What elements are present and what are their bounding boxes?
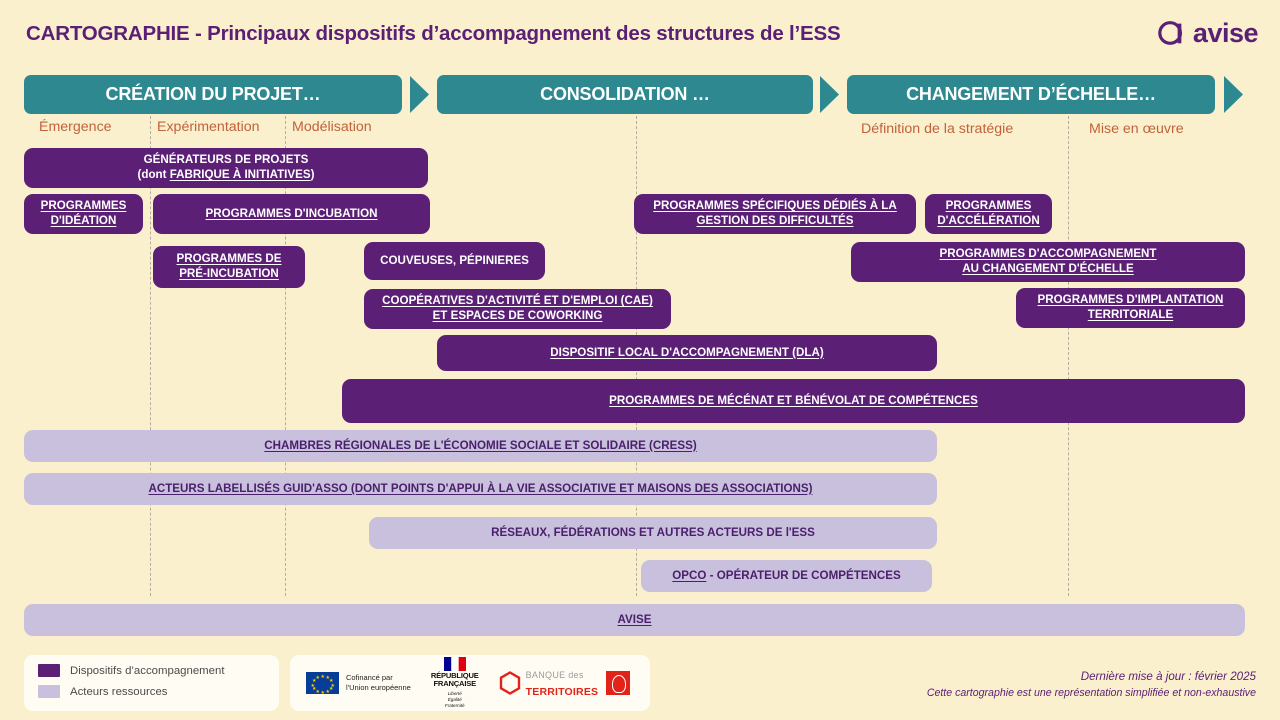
funder-banque-des-territoires: BANQUE des TERRITOIRES	[499, 666, 631, 700]
eu-funding-text: Cofinancé par l'Union européenne	[346, 673, 411, 693]
box-line-suffix: - OPÉRATEUR DE COMPÉTENCES	[706, 569, 900, 582]
box-line: PROGRAMMES	[41, 199, 127, 212]
substage-label-mise-en-oeuvre: Mise en œuvre	[1089, 121, 1184, 137]
box-line: TERRITORIALE	[1088, 308, 1173, 321]
box-mecenat-benevolat-competences[interactable]: PROGRAMMES DE MÉCÉNAT ET BÉNÉVOLAT DE CO…	[342, 379, 1245, 423]
column-divider-4	[1068, 116, 1069, 596]
legend-label: Dispositifs d’accompagnement	[70, 665, 224, 677]
box-line: PROGRAMMES DE MÉCÉNAT ET BÉNÉVOLAT DE CO…	[609, 394, 978, 407]
box-line: DISPOSITIF LOCAL D'ACCOMPAGNEMENT (DLA)	[550, 346, 823, 359]
column-divider-1	[150, 116, 151, 596]
box-line: PROGRAMMES D'INCUBATION	[206, 207, 378, 220]
box-programmes-gestion-difficultes[interactable]: PROGRAMMES SPÉCIFIQUES DÉDIÉS À LA GESTI…	[634, 194, 916, 234]
avise-wordmark: avise	[1193, 20, 1258, 47]
box-line: AVISE	[618, 613, 652, 626]
box-line: PROGRAMMES D'IMPLANTATION	[1038, 293, 1224, 306]
box-line: COUVEUSES, PÉPINIERES	[380, 254, 529, 267]
substage-label-emergence: Émergence	[39, 119, 112, 135]
funder-european-union: ★ ★ ★ ★ ★ ★ ★ ★ ★ ★ ★ ★ Cofinancé par l'…	[306, 672, 411, 694]
box-dispositif-local-accompagnement[interactable]: DISPOSITIF LOCAL D'ACCOMPAGNEMENT (DLA)	[437, 335, 937, 371]
legend-item-acteurs: Acteurs ressources	[38, 685, 279, 698]
box-line: D'IDÉATION	[51, 214, 117, 227]
box-accompagnement-changement-echelle[interactable]: PROGRAMMES D'ACCOMPAGNEMENT AU CHANGEMEN…	[851, 242, 1245, 282]
phase-arrow-2-icon	[818, 75, 840, 114]
box-line: RÉSEAUX, FÉDÉRATIONS ET AUTRES ACTEURS D…	[491, 526, 815, 539]
rf-motto-3: Fraternité	[431, 703, 479, 709]
eu-funding-line2: l'Union européenne	[346, 683, 411, 692]
column-divider-2	[285, 116, 286, 596]
eu-flag-icon: ★ ★ ★ ★ ★ ★ ★ ★ ★ ★ ★ ★	[306, 672, 339, 694]
box-line: PROGRAMMES	[946, 199, 1032, 212]
box-line: AU CHANGEMENT D'ÉCHELLE	[962, 262, 1134, 275]
phase-label: CONSOLIDATION …	[540, 84, 710, 105]
funders-strip: ★ ★ ★ ★ ★ ★ ★ ★ ★ ★ ★ ★ Cofinancé par l'…	[290, 655, 650, 711]
phase-label: CHANGEMENT D’ÉCHELLE…	[906, 84, 1156, 105]
phase-arrow-3-icon	[1222, 75, 1244, 114]
box-line: COOPÉRATIVES D'ACTIVITÉ ET D'EMPLOI (CAE…	[382, 294, 653, 307]
caisse-des-depots-icon	[606, 671, 630, 695]
box-programmes-pre-incubation[interactable]: PROGRAMMES DE PRÉ-INCUBATION	[153, 246, 305, 288]
box-line-link: OPCO	[672, 569, 706, 582]
substage-label-modelisation: Modélisation	[292, 119, 372, 135]
substage-label-definition-strategie: Définition de la stratégie	[861, 121, 1013, 137]
substage-label-experimentation: Expérimentation	[157, 119, 260, 135]
box-line: GÉNÉRATEURS DE PROJETS	[144, 153, 309, 166]
box-programmes-incubation[interactable]: PROGRAMMES D'INCUBATION	[153, 194, 430, 234]
phase-arrow-1-icon	[408, 75, 430, 114]
french-flag-icon	[444, 657, 466, 671]
phase-banner-creation[interactable]: CRÉATION DU PROJET…	[24, 75, 402, 114]
rf-name-line2: FRANÇAISE	[431, 680, 479, 688]
avise-logo: avise	[1157, 18, 1258, 48]
cartography-infographic: CARTOGRAPHIE - Principaux dispositifs d’…	[0, 0, 1280, 720]
legend: Dispositifs d’accompagnement Acteurs res…	[24, 655, 279, 711]
box-opco[interactable]: OPCO - OPÉRATEUR DE COMPÉTENCES	[641, 560, 932, 592]
box-line: D'ACCÉLÉRATION	[937, 214, 1039, 227]
footnote-disclaimer: Cette cartographie est une représentatio…	[927, 687, 1256, 699]
legend-item-dispositifs: Dispositifs d’accompagnement	[38, 664, 279, 677]
box-reseaux-federations[interactable]: RÉSEAUX, FÉDÉRATIONS ET AUTRES ACTEURS D…	[369, 517, 937, 549]
legend-swatch-acteurs-icon	[38, 685, 60, 698]
phase-label: CRÉATION DU PROJET…	[106, 84, 321, 105]
box-programmes-acceleration[interactable]: PROGRAMMES D'ACCÉLÉRATION	[925, 194, 1052, 234]
box-avise[interactable]: AVISE	[24, 604, 1245, 636]
box-cress[interactable]: CHAMBRES RÉGIONALES DE L'ÉCONOMIE SOCIAL…	[24, 430, 937, 462]
legend-label: Acteurs ressources	[70, 686, 168, 698]
avise-a-mark-icon	[1157, 18, 1187, 48]
box-line: ACTEURS LABELLISÉS GUID'ASSO (DONT POINT…	[148, 482, 812, 495]
box-line: PRÉ-INCUBATION	[179, 267, 279, 280]
phase-banner-changement-echelle[interactable]: CHANGEMENT D’ÉCHELLE…	[847, 75, 1215, 114]
box-acteurs-guid-asso[interactable]: ACTEURS LABELLISÉS GUID'ASSO (DONT POINT…	[24, 473, 937, 505]
legend-swatch-dispositifs-icon	[38, 664, 60, 677]
bdt-line1: BANQUE des	[526, 670, 584, 680]
box-line-prefix: (dont	[138, 168, 170, 181]
page-title: CARTOGRAPHIE - Principaux dispositifs d’…	[26, 22, 840, 46]
funder-republique-francaise: RÉPUBLIQUE FRANÇAISE Liberté Égalité Fra…	[431, 657, 479, 709]
box-programmes-implantation-territoriale[interactable]: PROGRAMMES D'IMPLANTATION TERRITORIALE	[1016, 288, 1245, 328]
box-cooperatives-activite-emploi[interactable]: COOPÉRATIVES D'ACTIVITÉ ET D'EMPLOI (CAE…	[364, 289, 671, 329]
phase-banner-consolidation[interactable]: CONSOLIDATION …	[437, 75, 813, 114]
box-line: GESTION DES DIFFICULTÉS	[697, 214, 854, 227]
box-line-link: FABRIQUE À INITIATIVES	[170, 168, 311, 181]
footnote-last-update: Dernière mise à jour : février 2025	[927, 670, 1256, 683]
box-generateurs-de-projets[interactable]: GÉNÉRATEURS DE PROJETS (dont FABRIQUE À …	[24, 148, 428, 188]
box-line: ET ESPACES DE COWORKING	[433, 309, 603, 322]
box-programmes-ideation[interactable]: PROGRAMMES D'IDÉATION	[24, 194, 143, 234]
hexagon-icon	[499, 671, 521, 695]
eu-funding-line1: Cofinancé par	[346, 673, 393, 682]
box-line: PROGRAMMES DE	[177, 252, 282, 265]
box-line-suffix: )	[311, 168, 315, 181]
bdt-line2: TERRITOIRES	[526, 686, 599, 698]
box-line: CHAMBRES RÉGIONALES DE L'ÉCONOMIE SOCIAL…	[264, 439, 696, 452]
box-line: PROGRAMMES SPÉCIFIQUES DÉDIÉS À LA	[653, 199, 897, 212]
footnote: Dernière mise à jour : février 2025 Cett…	[927, 670, 1256, 699]
box-line: PROGRAMMES D'ACCOMPAGNEMENT	[939, 247, 1156, 260]
box-couveuses-pepinieres[interactable]: COUVEUSES, PÉPINIERES	[364, 242, 545, 280]
